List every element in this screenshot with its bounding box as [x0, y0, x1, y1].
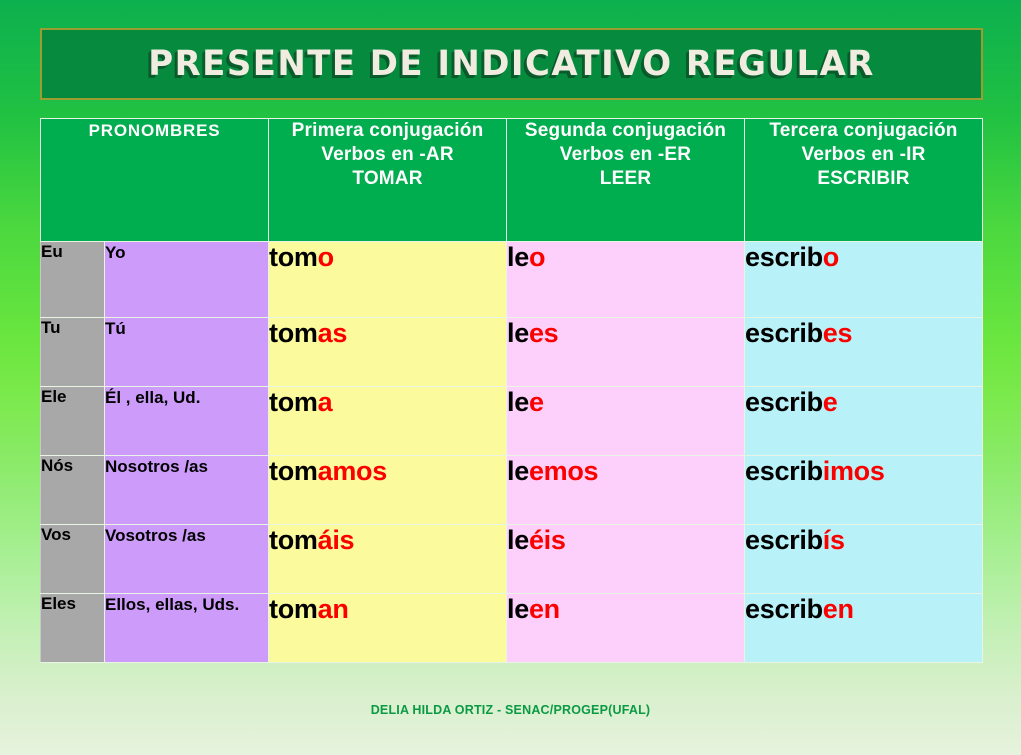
header-primera-line2: Verbos en -AR — [269, 143, 506, 167]
verb-ar-form: toman — [269, 594, 507, 663]
header-primera-line1: Primera conjugación — [269, 119, 506, 143]
verb-er-form: leemos — [507, 456, 745, 525]
table-row: Tu Tú tomas lees escribes — [41, 318, 983, 387]
header-tercera-line2: Verbos en -IR — [745, 143, 982, 167]
header-tercera-conjugacion: Tercera conjugación Verbos en -IR ESCRIB… — [745, 119, 983, 242]
verb-ending: o — [318, 242, 334, 272]
verb-stem: tom — [269, 387, 318, 417]
verb-ar-form: tomamos — [269, 456, 507, 525]
row-pronoun: Tú — [105, 318, 269, 387]
row-pronoun: Ellos, ellas, Uds. — [105, 594, 269, 663]
row-abbr: Ele — [41, 387, 105, 456]
header-primera-line3: TOMAR — [269, 167, 506, 191]
verb-ending: éis — [529, 525, 566, 555]
verb-ending: áis — [318, 525, 355, 555]
table-row: Eles Ellos, ellas, Uds. toman leen escri… — [41, 594, 983, 663]
verb-stem: le — [507, 594, 529, 624]
verb-ending: es — [823, 318, 852, 348]
verb-ending: a — [318, 387, 333, 417]
verb-ending: e — [823, 387, 838, 417]
verb-ir-form: escribimos — [745, 456, 983, 525]
verb-ar-form: tomo — [269, 242, 507, 318]
verb-er-form: lee — [507, 387, 745, 456]
verb-ending: o — [823, 242, 839, 272]
row-pronoun: Vosotros /as — [105, 525, 269, 594]
verb-ending: es — [529, 318, 558, 348]
verb-ar-form: tomas — [269, 318, 507, 387]
verb-ending: en — [529, 594, 560, 624]
verb-stem: escrib — [745, 456, 823, 486]
header-tercera-line3: ESCRIBIR — [745, 167, 982, 191]
verb-er-form: lees — [507, 318, 745, 387]
verb-ir-form: escribo — [745, 242, 983, 318]
row-abbr: Nós — [41, 456, 105, 525]
table-body: Eu Yo tomo leo escribo Tu Tú tomas lees … — [41, 242, 983, 663]
conjugation-table: PRONOMBRES Primera conjugación Verbos en… — [40, 118, 983, 663]
table-row: Vos Vosotros /as tomáis leéis escribís — [41, 525, 983, 594]
verb-stem: escrib — [745, 242, 823, 272]
row-pronoun: Nosotros /as — [105, 456, 269, 525]
verb-stem: tom — [269, 525, 318, 555]
verb-stem: tom — [269, 594, 318, 624]
verb-er-form: leen — [507, 594, 745, 663]
verb-stem: tom — [269, 318, 318, 348]
verb-stem: le — [507, 525, 529, 555]
page-title: PRESENTE DE INDICATIVO REGULAR — [148, 44, 875, 84]
verb-ir-form: escriben — [745, 594, 983, 663]
verb-ir-form: escribís — [745, 525, 983, 594]
header-primera-conjugacion: Primera conjugación Verbos en -AR TOMAR — [269, 119, 507, 242]
header-segunda-line1: Segunda conjugación — [507, 119, 744, 143]
verb-ending: as — [318, 318, 347, 348]
verb-stem: escrib — [745, 594, 823, 624]
row-abbr: Eles — [41, 594, 105, 663]
verb-stem: tom — [269, 456, 318, 486]
table-header-row: PRONOMBRES Primera conjugación Verbos en… — [41, 119, 983, 242]
verb-ending: amos — [318, 456, 387, 486]
verb-ar-form: toma — [269, 387, 507, 456]
verb-stem: le — [507, 456, 529, 486]
row-pronoun: Él , ella, Ud. — [105, 387, 269, 456]
row-abbr: Vos — [41, 525, 105, 594]
verb-ir-form: escribes — [745, 318, 983, 387]
verb-stem: escrib — [745, 318, 823, 348]
verb-ar-form: tomáis — [269, 525, 507, 594]
verb-ending: an — [318, 594, 349, 624]
verb-ending: ís — [823, 525, 845, 555]
verb-ending: emos — [529, 456, 598, 486]
row-abbr: Tu — [41, 318, 105, 387]
verb-stem: tom — [269, 242, 318, 272]
verb-stem: le — [507, 387, 529, 417]
verb-ending: imos — [823, 456, 885, 486]
slide-canvas: PRESENTE DE INDICATIVO REGULAR PRONOMBRE… — [0, 0, 1021, 755]
footer-credit: DELIA HILDA ORTIZ - SENAC/PROGEP(UFAL) — [0, 703, 1021, 717]
verb-ending: en — [823, 594, 854, 624]
header-segunda-line3: LEER — [507, 167, 744, 191]
table-row: Eu Yo tomo leo escribo — [41, 242, 983, 318]
verb-ending: e — [529, 387, 544, 417]
verb-ir-form: escribe — [745, 387, 983, 456]
table-row: Nós Nosotros /as tomamos leemos escribim… — [41, 456, 983, 525]
verb-stem: escrib — [745, 387, 823, 417]
verb-er-form: leéis — [507, 525, 745, 594]
verb-stem: le — [507, 318, 529, 348]
verb-stem: le — [507, 242, 529, 272]
row-abbr: Eu — [41, 242, 105, 318]
title-banner: PRESENTE DE INDICATIVO REGULAR — [40, 28, 983, 100]
header-segunda-line2: Verbos en -ER — [507, 143, 744, 167]
verb-stem: escrib — [745, 525, 823, 555]
row-pronoun: Yo — [105, 242, 269, 318]
header-tercera-line1: Tercera conjugación — [745, 119, 982, 143]
verb-ending: o — [529, 242, 545, 272]
verb-er-form: leo — [507, 242, 745, 318]
table-row: Ele Él , ella, Ud. toma lee escribe — [41, 387, 983, 456]
header-segunda-conjugacion: Segunda conjugación Verbos en -ER LEER — [507, 119, 745, 242]
header-pronombres: PRONOMBRES — [41, 119, 269, 242]
